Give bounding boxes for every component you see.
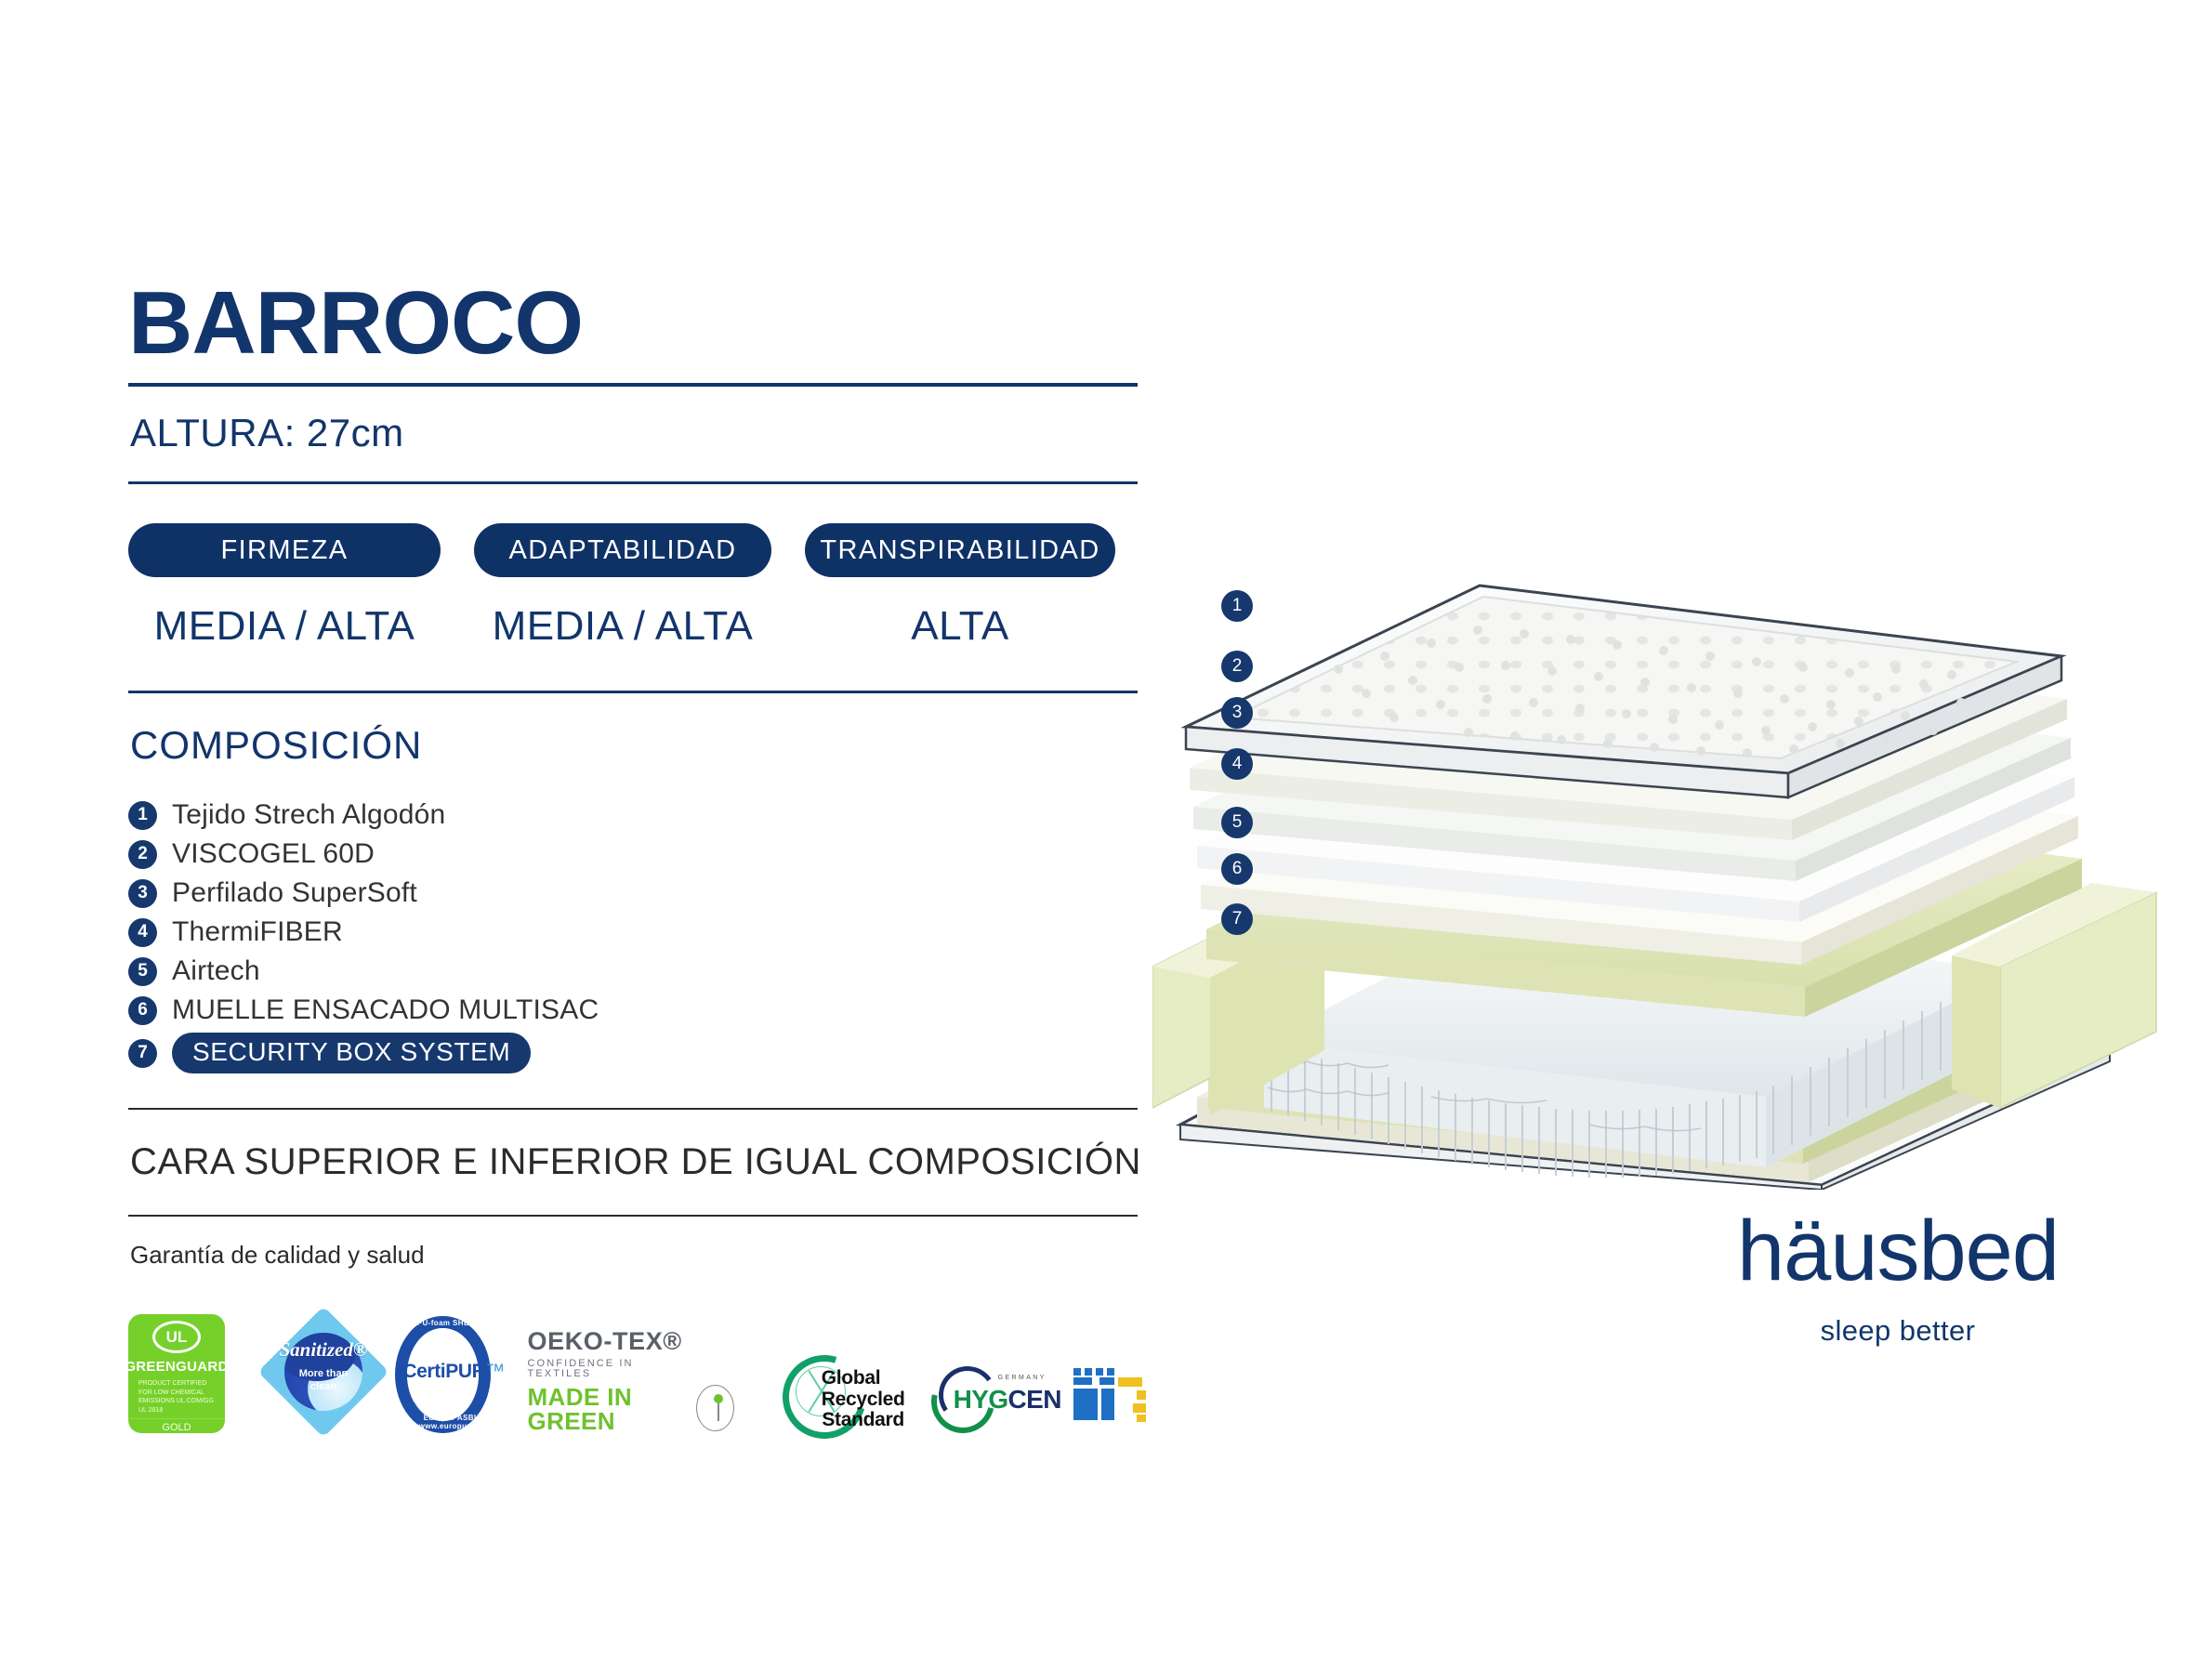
sanitized-tagline: More than clean — [262, 1368, 385, 1394]
greenguard-level: GOLD — [128, 1418, 225, 1433]
composition-label: MUELLE ENSACADO MULTISAC — [172, 994, 599, 1026]
attribute-name-badge: FIRMEZA — [128, 523, 441, 577]
oeko-tex-badge: OEKO-TEX® CONFIDENCE IN TEXTILES MADE IN… — [528, 1329, 734, 1433]
composition-number-badge: 3 — [128, 879, 157, 908]
composition-top-divider — [128, 691, 1138, 693]
greenguard-name: GREENGUARD — [128, 1359, 225, 1375]
sanitized-name: Sanitized® — [262, 1338, 385, 1362]
ul-icon: UL — [152, 1321, 201, 1353]
composition-number-badge: 7 — [128, 1039, 157, 1068]
brand-tagline: sleep better — [1731, 1314, 2065, 1348]
attribute-value: MEDIA / ALTA — [493, 603, 754, 650]
attribute-row: FIRMEZA MEDIA / ALTA ADAPTABILIDAD MEDIA… — [128, 523, 1141, 650]
hygcen-badge: GERMANY HYGCEN — [929, 1361, 1035, 1433]
oeko-tex-made-in-green: MADE IN GREEN — [528, 1385, 689, 1433]
composition-label: Airtech — [172, 955, 260, 987]
certipur-arc-top-text: The PU-foam SHE-Standard — [395, 1319, 512, 1327]
grs-name: Global Recycled Standard — [822, 1368, 905, 1431]
attribute-value: ALTA — [911, 603, 1009, 650]
hygcen-country: GERMANY — [998, 1375, 1047, 1381]
composition-label: VISCOGEL 60D — [172, 838, 375, 870]
diagram-callout-4: 4 — [1221, 748, 1253, 780]
oeko-tex-name: OEKO-TEX® — [528, 1329, 689, 1354]
composition-number-badge: 2 — [128, 840, 157, 869]
title-divider — [128, 383, 1138, 387]
faces-top-divider — [128, 1108, 1138, 1110]
brand-name: häusbed — [1731, 1208, 2065, 1294]
attribute-transpirabilidad: TRANSPIRABILIDAD ALTA — [805, 523, 1115, 650]
faces-note: CARA SUPERIOR E INFERIOR DE IGUAL COMPOS… — [130, 1141, 1141, 1183]
composition-number-badge: 1 — [128, 801, 157, 830]
composition-label: Perfilado SuperSoft — [172, 877, 417, 909]
composition-number-badge: 5 — [128, 957, 157, 986]
attribute-name-badge: TRANSPIRABILIDAD — [805, 523, 1115, 577]
certipur-arc-bottom-text: Europur ASBL - www.europur.com — [395, 1414, 512, 1430]
global-recycled-standard-badge: Global Recycled Standard — [777, 1348, 898, 1433]
height-divider — [128, 481, 1138, 484]
attribute-name-badge: ADAPTABILIDAD — [474, 523, 771, 577]
composition-section: COMPOSICIÓN 1 Tejido Strech Algodón 2 VI… — [128, 723, 1141, 1076]
composition-item-1: 1 Tejido Strech Algodón — [128, 796, 1141, 835]
composition-label: Tejido Strech Algodón — [172, 799, 445, 831]
composition-item-5: 5 Airtech — [128, 952, 1141, 991]
brand-logo: häusbed sleep better — [1731, 1208, 2065, 1348]
grs-line1: Global Recycled — [822, 1368, 905, 1410]
certification-badges: UL GREENGUARD PRODUCT CERTIFIED FOR LOW … — [128, 1294, 1141, 1433]
greenguard-subtext: PRODUCT CERTIFIED FOR LOW CHEMICAL EMISS… — [133, 1379, 220, 1415]
composition-item-6: 6 MUELLE ENSACADO MULTISAC — [128, 991, 1141, 1030]
plant-icon — [696, 1385, 734, 1431]
diagram-callout-3: 3 — [1221, 697, 1253, 729]
page-title: BARROCO — [128, 279, 1141, 368]
oeko-tex-subtitle: CONFIDENCE IN TEXTILES — [528, 1359, 689, 1379]
spec-left-column: BARROCO ALTURA: 27cm FIRMEZA MEDIA / ALT… — [128, 279, 1141, 1433]
attribute-value: MEDIA / ALTA — [154, 603, 415, 650]
diagram-callout-5: 5 — [1221, 807, 1253, 838]
height-label: ALTURA: 27cm — [130, 411, 1141, 455]
composition-heading: COMPOSICIÓN — [130, 723, 1141, 768]
diagram-callout-1: 1 — [1221, 590, 1253, 622]
sanitized-tagline-line1: More than — [299, 1368, 349, 1379]
warranty-label: Garantía de calidad y salud — [130, 1241, 1141, 1270]
composition-item-3: 3 Perfilado SuperSoft — [128, 874, 1141, 913]
diagram-callout-2: 2 — [1221, 651, 1253, 682]
certipur-badge: The PU-foam SHE-Standard CertiPUR™ Europ… — [395, 1316, 490, 1433]
pixel-logo-badge — [1072, 1361, 1141, 1433]
composition-number-badge: 4 — [128, 918, 157, 947]
faces-bottom-divider — [128, 1215, 1138, 1217]
diagram-callout-6: 6 — [1221, 853, 1253, 885]
composition-item-2: 2 VISCOGEL 60D — [128, 835, 1141, 874]
mattress-exploded-diagram: 1 2 3 4 5 6 7 — [1152, 483, 2193, 1190]
sanitized-tagline-line2: clean — [310, 1381, 336, 1392]
composition-label: ThermiFIBER — [172, 916, 343, 948]
diagram-callout-7: 7 — [1221, 903, 1253, 935]
composition-label-highlighted: SECURITY BOX SYSTEM — [172, 1033, 531, 1073]
greenguard-badge: UL GREENGUARD PRODUCT CERTIFIED FOR LOW … — [128, 1314, 225, 1433]
hygcen-name: HYGCEN — [954, 1385, 1061, 1415]
attribute-firmeza: FIRMEZA MEDIA / ALTA — [128, 523, 441, 650]
certipur-name: CertiPUR™ — [395, 1361, 512, 1383]
composition-item-4: 4 ThermiFIBER — [128, 913, 1141, 952]
product-spec-sheet: BARROCO ALTURA: 27cm FIRMEZA MEDIA / ALT… — [0, 0, 2212, 1659]
composition-item-7: 7 SECURITY BOX SYSTEM — [128, 1030, 1141, 1076]
sanitized-badge: Sanitized® More than clean — [262, 1310, 362, 1433]
grs-line2: Standard — [822, 1410, 905, 1431]
composition-number-badge: 6 — [128, 996, 157, 1025]
attribute-adaptabilidad: ADAPTABILIDAD MEDIA / ALTA — [474, 523, 771, 650]
